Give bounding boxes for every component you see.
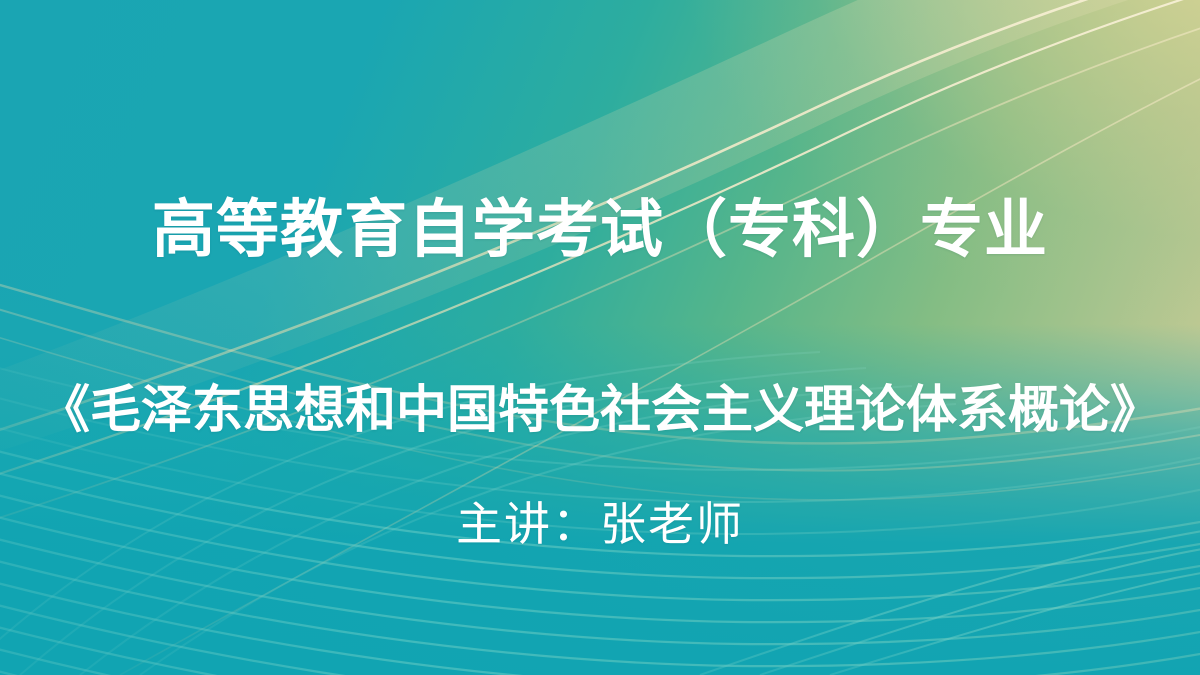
slide-content: 高等教育自学考试（专科）专业 《毛泽东思想和中国特色社会主义理论体系概论》 主讲… [0, 0, 1200, 675]
title-slide: 高等教育自学考试（专科）专业 《毛泽东思想和中国特色社会主义理论体系概论》 主讲… [0, 0, 1200, 675]
presenter-line: 主讲：张老师 [0, 494, 1200, 556]
page-title: 高等教育自学考试（专科）专业 [0, 188, 1200, 272]
course-subtitle: 《毛泽东思想和中国特色社会主义理论体系概论》 [0, 375, 1200, 445]
